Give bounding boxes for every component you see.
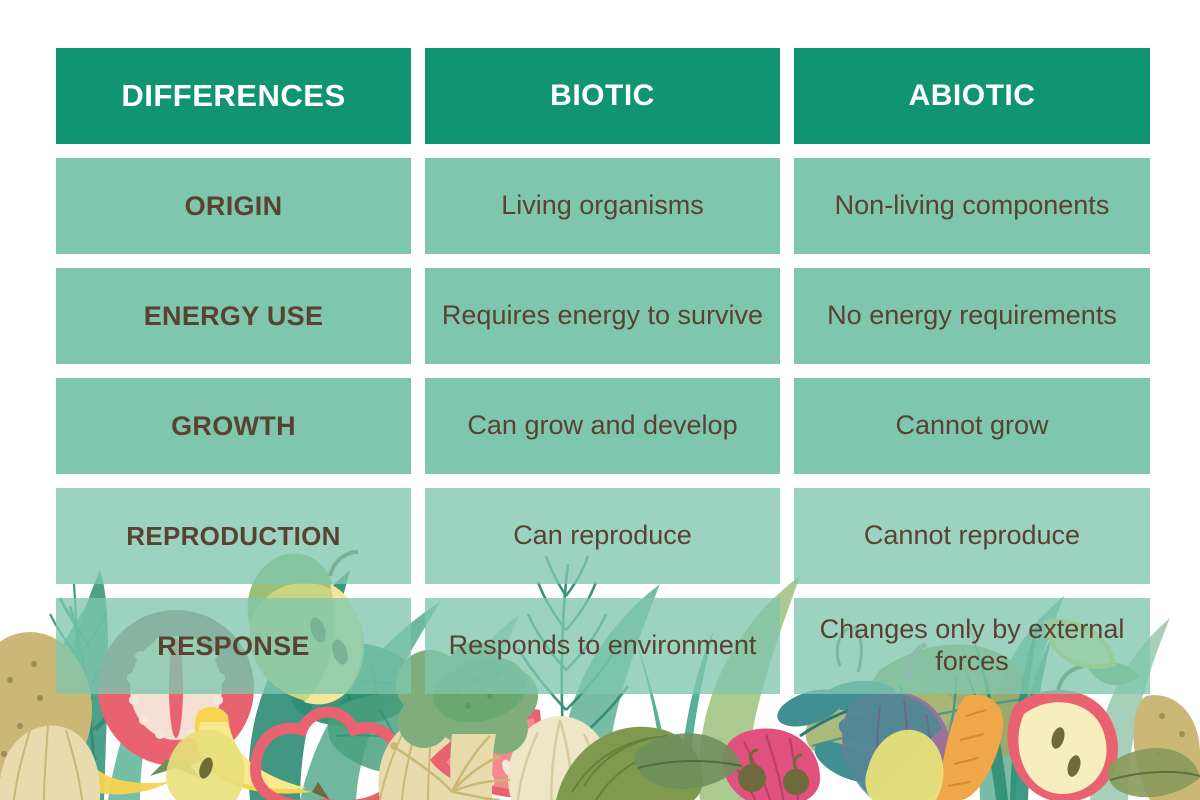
table-row: GROWTH Can grow and develop Cannot grow: [56, 378, 1150, 474]
table-row: REPRODUCTION Can reproduce Cannot reprod…: [56, 488, 1150, 584]
cell-biotic-growth: Can grow and develop: [425, 378, 780, 474]
leaf: [634, 733, 742, 789]
comparison-table: DIFFERENCES BIOTIC ABIOTIC ORIGIN Living…: [56, 48, 1150, 694]
cell-biotic-energy-use: Requires energy to survive: [425, 268, 780, 364]
beet-greens: [773, 679, 913, 791]
onion: [378, 715, 492, 800]
infographic-canvas: DIFFERENCES BIOTIC ABIOTIC ORIGIN Living…: [0, 0, 1200, 800]
cell-abiotic-origin: Non-living components: [794, 158, 1150, 254]
banana: [195, 707, 330, 800]
onion: [0, 726, 100, 800]
row-label-reproduction: REPRODUCTION: [56, 488, 411, 584]
pear: [865, 730, 943, 800]
banana: [60, 751, 170, 794]
column-header-biotic: BIOTIC: [425, 48, 780, 144]
chard-leaf: [328, 694, 490, 775]
row-label-energy-use: ENERGY USE: [56, 268, 411, 364]
cell-biotic-response: Responds to environment: [425, 598, 780, 694]
cell-biotic-origin: Living organisms: [425, 158, 780, 254]
dandelion-seed: [390, 736, 510, 800]
column-header-differences: DIFFERENCES: [56, 48, 411, 144]
row-label-growth: GROWTH: [56, 378, 411, 474]
cell-abiotic-response: Changes only by external forces: [794, 598, 1150, 694]
beet: [723, 679, 913, 800]
table-row: RESPONSE Responds to environment Changes…: [56, 598, 1150, 694]
cell-abiotic-energy-use: No energy requirements: [794, 268, 1150, 364]
cell-biotic-reproduction: Can reproduce: [425, 488, 780, 584]
pear: [166, 729, 245, 800]
pear: [1134, 695, 1200, 800]
cell-abiotic-reproduction: Cannot reproduce: [794, 488, 1150, 584]
column-header-abiotic: ABIOTIC: [794, 48, 1150, 144]
table-row: ORIGIN Living organisms Non-living compo…: [56, 158, 1150, 254]
radish: [738, 750, 809, 795]
row-label-origin: ORIGIN: [56, 158, 411, 254]
tomato-wedge: [430, 709, 548, 798]
row-label-response: RESPONSE: [56, 598, 411, 694]
bell-pepper: [256, 712, 399, 800]
table-row: ENERGY USE Requires energy to survive No…: [56, 268, 1150, 364]
garlic: [508, 716, 612, 800]
zucchini: [556, 727, 703, 800]
table-header-row: DIFFERENCES BIOTIC ABIOTIC: [56, 48, 1150, 144]
cell-abiotic-growth: Cannot grow: [794, 378, 1150, 474]
leaf: [1108, 748, 1200, 797]
carrot: [936, 695, 1003, 800]
